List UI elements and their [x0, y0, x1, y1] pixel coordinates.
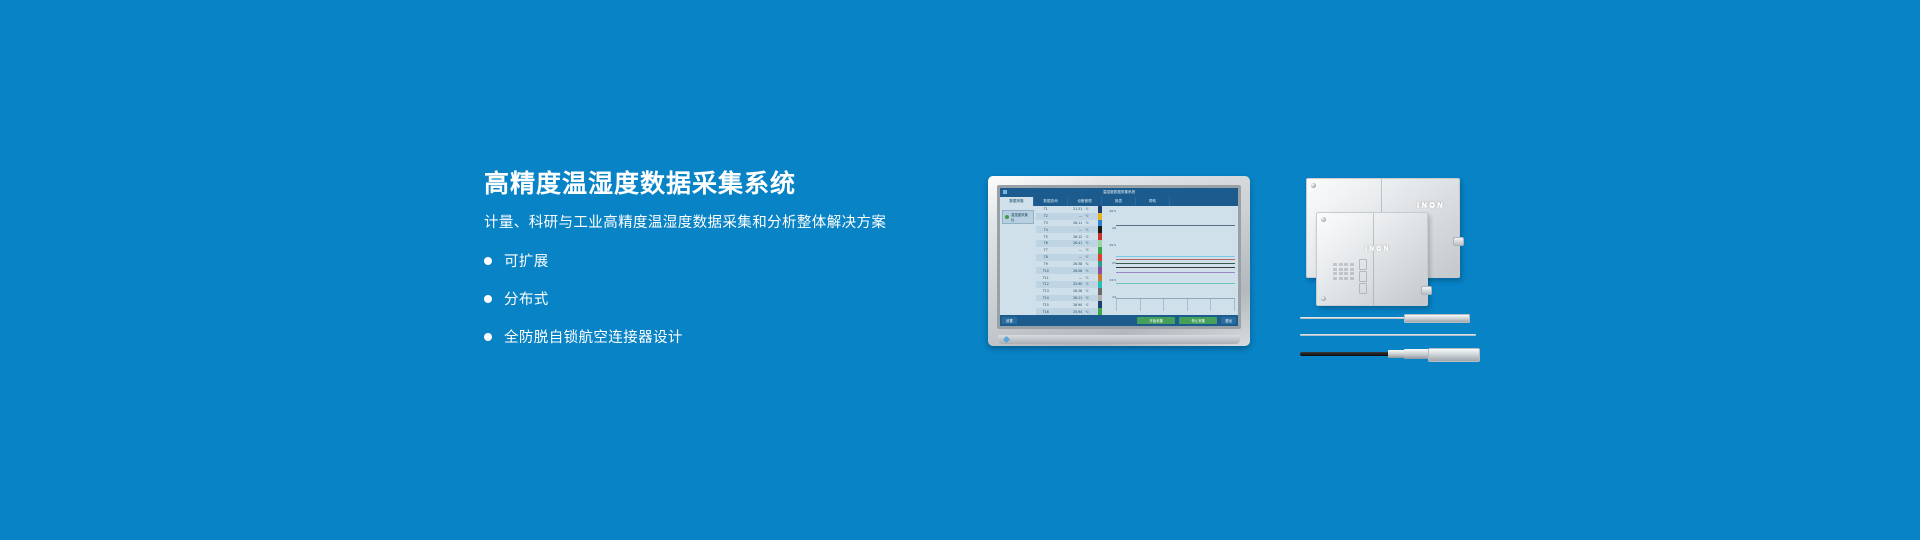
window-menu-icon[interactable] [1003, 190, 1007, 194]
trend-chart: 26.52625.52524.524 [1102, 206, 1238, 315]
channel-value: --- [1055, 248, 1086, 252]
module-slot-icon [1359, 259, 1367, 270]
table-row[interactable]: T526.12℃ [1036, 233, 1098, 240]
page-title: 高精度温湿度数据采集系统 [484, 170, 954, 199]
channel-unit: ℃ [1085, 214, 1097, 218]
channel-unit: ℃ [1085, 207, 1097, 211]
app-body: 温湿度采集仪 T121.31℃T2---℃T326.11℃T4---℃T526.… [1000, 206, 1238, 315]
table-row[interactable]: T626.41℃ [1036, 240, 1098, 247]
probe-cable [1300, 352, 1392, 356]
channel-unit: ℃ [1085, 296, 1097, 300]
x-tick [1187, 299, 1188, 311]
channel-name: T16 [1037, 310, 1055, 314]
x-tick [1116, 299, 1117, 311]
chart-x-axis [1116, 298, 1235, 313]
screw-icon [1311, 183, 1316, 188]
probe-tip [1404, 314, 1470, 323]
trend-line [1116, 259, 1235, 260]
product-banner: 高精度温湿度数据采集系统 计量、科研与工业高精度温湿度数据采集和分析整体解决方案… [0, 0, 1920, 540]
y-tick-label: 26 [1104, 226, 1116, 230]
channel-name: T1 [1037, 207, 1055, 211]
table-row[interactable]: T1526.90℃ [1036, 301, 1098, 308]
channel-name: T14 [1037, 296, 1055, 300]
channel-unit: ℃ [1085, 228, 1097, 232]
channel-unit: ℃ [1085, 262, 1097, 266]
connector-port [1453, 237, 1464, 246]
channel-unit: ℃ [1085, 221, 1097, 225]
table-row[interactable]: T1225.90℃ [1036, 281, 1098, 288]
channel-name: T15 [1037, 303, 1055, 307]
channel-name: T5 [1037, 235, 1055, 239]
trend-line [1116, 283, 1235, 284]
x-tick [1210, 299, 1211, 311]
channel-value: --- [1055, 255, 1086, 259]
list-item: 可扩展 [484, 250, 954, 271]
banner-text-block: 高精度温湿度数据采集系统 计量、科研与工业高精度温湿度数据采集和分析整体解决方案… [484, 170, 954, 364]
settings-button[interactable]: 设置 [1002, 317, 1017, 324]
channel-unit: ℃ [1085, 269, 1097, 273]
channel-value: 26.11 [1055, 221, 1086, 225]
channel-value: --- [1055, 276, 1086, 280]
terminal-block-icon [1333, 263, 1354, 280]
trend-line [1116, 225, 1235, 226]
channel-name: T11 [1037, 276, 1055, 280]
y-tick-label: 25.5 [1104, 243, 1116, 247]
tab-data-query[interactable]: 数据查询 [1034, 197, 1068, 206]
channel-unit: ℃ [1085, 248, 1097, 252]
channel-unit: ℃ [1085, 303, 1097, 307]
app-tab-bar: 数据采集 数据查询 设备管理 报表 帮助 [1000, 197, 1238, 206]
feature-label: 可扩展 [504, 250, 549, 271]
y-tick-label: 25 [1104, 261, 1116, 265]
tab-help[interactable]: 帮助 [1136, 197, 1170, 206]
app-titlebar: 温湿度数据采集系统 [1000, 188, 1238, 197]
table-row[interactable]: T1026.08℃ [1036, 267, 1098, 274]
channel-value: 26.38 [1055, 262, 1086, 266]
channel-unit: ℃ [1085, 310, 1097, 314]
start-acquisition-button[interactable]: 开始采集 [1137, 317, 1175, 324]
screw-icon [1321, 296, 1326, 301]
y-tick-label: 24.5 [1104, 278, 1116, 282]
device-tree-sidebar: 温湿度采集仪 [1000, 206, 1036, 315]
table-row[interactable]: T1625.94℃ [1036, 308, 1098, 315]
brand-logo: INON [1417, 201, 1445, 209]
probe-coupler [1404, 349, 1430, 359]
channel-name: T4 [1037, 228, 1055, 232]
table-row[interactable]: T926.38℃ [1036, 261, 1098, 268]
channel-value: 26.90 [1055, 303, 1086, 307]
channel-name: T8 [1037, 255, 1055, 259]
channel-unit: ℃ [1085, 241, 1097, 245]
x-tick [1234, 299, 1235, 311]
module-slot-icon [1359, 283, 1367, 294]
channel-unit: ℃ [1085, 276, 1097, 280]
table-row[interactable]: T326.11℃ [1036, 220, 1098, 227]
table-row[interactable]: T1426.11℃ [1036, 295, 1098, 302]
exit-button[interactable]: 退出 [1221, 317, 1236, 324]
app-title: 温湿度数据采集系统 [1103, 190, 1135, 195]
bullet-dot-icon [484, 333, 492, 341]
x-tick [1140, 299, 1141, 311]
trend-line [1116, 272, 1235, 273]
channel-unit: ℃ [1085, 235, 1097, 239]
device-online-icon [1005, 215, 1009, 219]
bullet-dot-icon [484, 295, 492, 303]
channel-unit: ℃ [1085, 282, 1097, 286]
page-subtitle: 计量、科研与工业高精度温湿度数据采集和分析整体解决方案 [484, 215, 954, 232]
sidebar-item-label: 温湿度采集仪 [1011, 212, 1031, 222]
feature-label: 分布式 [504, 288, 549, 309]
screw-icon [1321, 217, 1326, 222]
software-screen: 温湿度数据采集系统 数据采集 数据查询 设备管理 报表 帮助 温湿度采集仪 [1000, 188, 1238, 326]
sidebar-item-device[interactable]: 温湿度采集仪 [1002, 210, 1034, 224]
panel-seam [1373, 213, 1374, 305]
channel-value: 26.28 [1055, 289, 1086, 293]
tab-report[interactable]: 报表 [1102, 197, 1136, 206]
channel-name: T13 [1037, 289, 1055, 293]
y-tick-label: 26.5 [1104, 209, 1116, 213]
feature-label: 全防脱自锁航空连接器设计 [504, 326, 683, 347]
channel-unit: ℃ [1085, 255, 1097, 259]
channel-unit: ℃ [1085, 289, 1097, 293]
channel-table[interactable]: T121.31℃T2---℃T326.11℃T4---℃T526.12℃T626… [1036, 206, 1098, 315]
channel-value: --- [1055, 214, 1086, 218]
channel-name: T10 [1037, 269, 1055, 273]
table-row[interactable]: T121.31℃ [1036, 206, 1098, 213]
sensor-probe-group [1300, 312, 1480, 370]
channel-value: 25.94 [1055, 310, 1086, 314]
table-row[interactable]: T4---℃ [1036, 226, 1098, 233]
channel-name: T3 [1037, 221, 1055, 225]
table-row[interactable]: T2---℃ [1036, 213, 1098, 220]
chart-y-axis: 26.52625.52524.524 [1104, 209, 1116, 299]
x-tick [1163, 299, 1164, 311]
channel-name: T12 [1037, 282, 1055, 286]
monitor-screen-frame: 温湿度数据采集系统 数据采集 数据查询 设备管理 报表 帮助 温湿度采集仪 [997, 185, 1241, 329]
panel-pc-monitor: 温湿度数据采集系统 数据采集 数据查询 设备管理 报表 帮助 温湿度采集仪 [988, 176, 1250, 346]
tab-data-acquisition[interactable]: 数据采集 [1000, 197, 1034, 206]
probe-housing [1428, 348, 1480, 362]
y-tick-label: 24 [1104, 295, 1116, 299]
channel-value: 26.08 [1055, 269, 1086, 273]
channel-value: --- [1055, 228, 1086, 232]
trend-line [1116, 256, 1235, 257]
channel-value: 25.90 [1055, 282, 1086, 286]
probe-cable [1300, 317, 1408, 319]
table-row[interactable]: T11---℃ [1036, 274, 1098, 281]
stop-acquisition-button[interactable]: 停止采集 [1179, 317, 1217, 324]
table-row[interactable]: T8---℃ [1036, 254, 1098, 261]
table-row[interactable]: T7---℃ [1036, 247, 1098, 254]
channel-name: T2 [1037, 214, 1055, 218]
connector-port [1421, 286, 1432, 295]
channel-value: 21.31 [1055, 207, 1086, 211]
bullet-dot-icon [484, 257, 492, 265]
probe-cable [1300, 334, 1476, 336]
module-slot-icon [1359, 271, 1367, 282]
channel-value: 26.41 [1055, 241, 1086, 245]
chart-plot-area [1116, 209, 1235, 299]
table-row[interactable]: T1326.28℃ [1036, 288, 1098, 295]
channel-name: T7 [1037, 248, 1055, 252]
tab-device-management[interactable]: 设备管理 [1068, 197, 1102, 206]
app-footer: 设置 开始采集 停止采集 退出 [1000, 315, 1238, 326]
data-logger-front-unit: INON [1316, 212, 1428, 306]
channel-name: T9 [1037, 262, 1055, 266]
list-item: 全防脱自锁航空连接器设计 [484, 326, 954, 347]
channel-value: 26.11 [1055, 296, 1086, 300]
channel-name: T6 [1037, 241, 1055, 245]
trend-line [1116, 263, 1235, 264]
trend-line [1116, 267, 1235, 268]
list-item: 分布式 [484, 288, 954, 309]
channel-value: 26.12 [1055, 235, 1086, 239]
feature-list: 可扩展 分布式 全防脱自锁航空连接器设计 [484, 250, 954, 347]
monitor-base [998, 335, 1240, 344]
brand-logo: INON [1365, 245, 1390, 252]
footer-button-group: 开始采集 停止采集 退出 [1135, 315, 1238, 326]
